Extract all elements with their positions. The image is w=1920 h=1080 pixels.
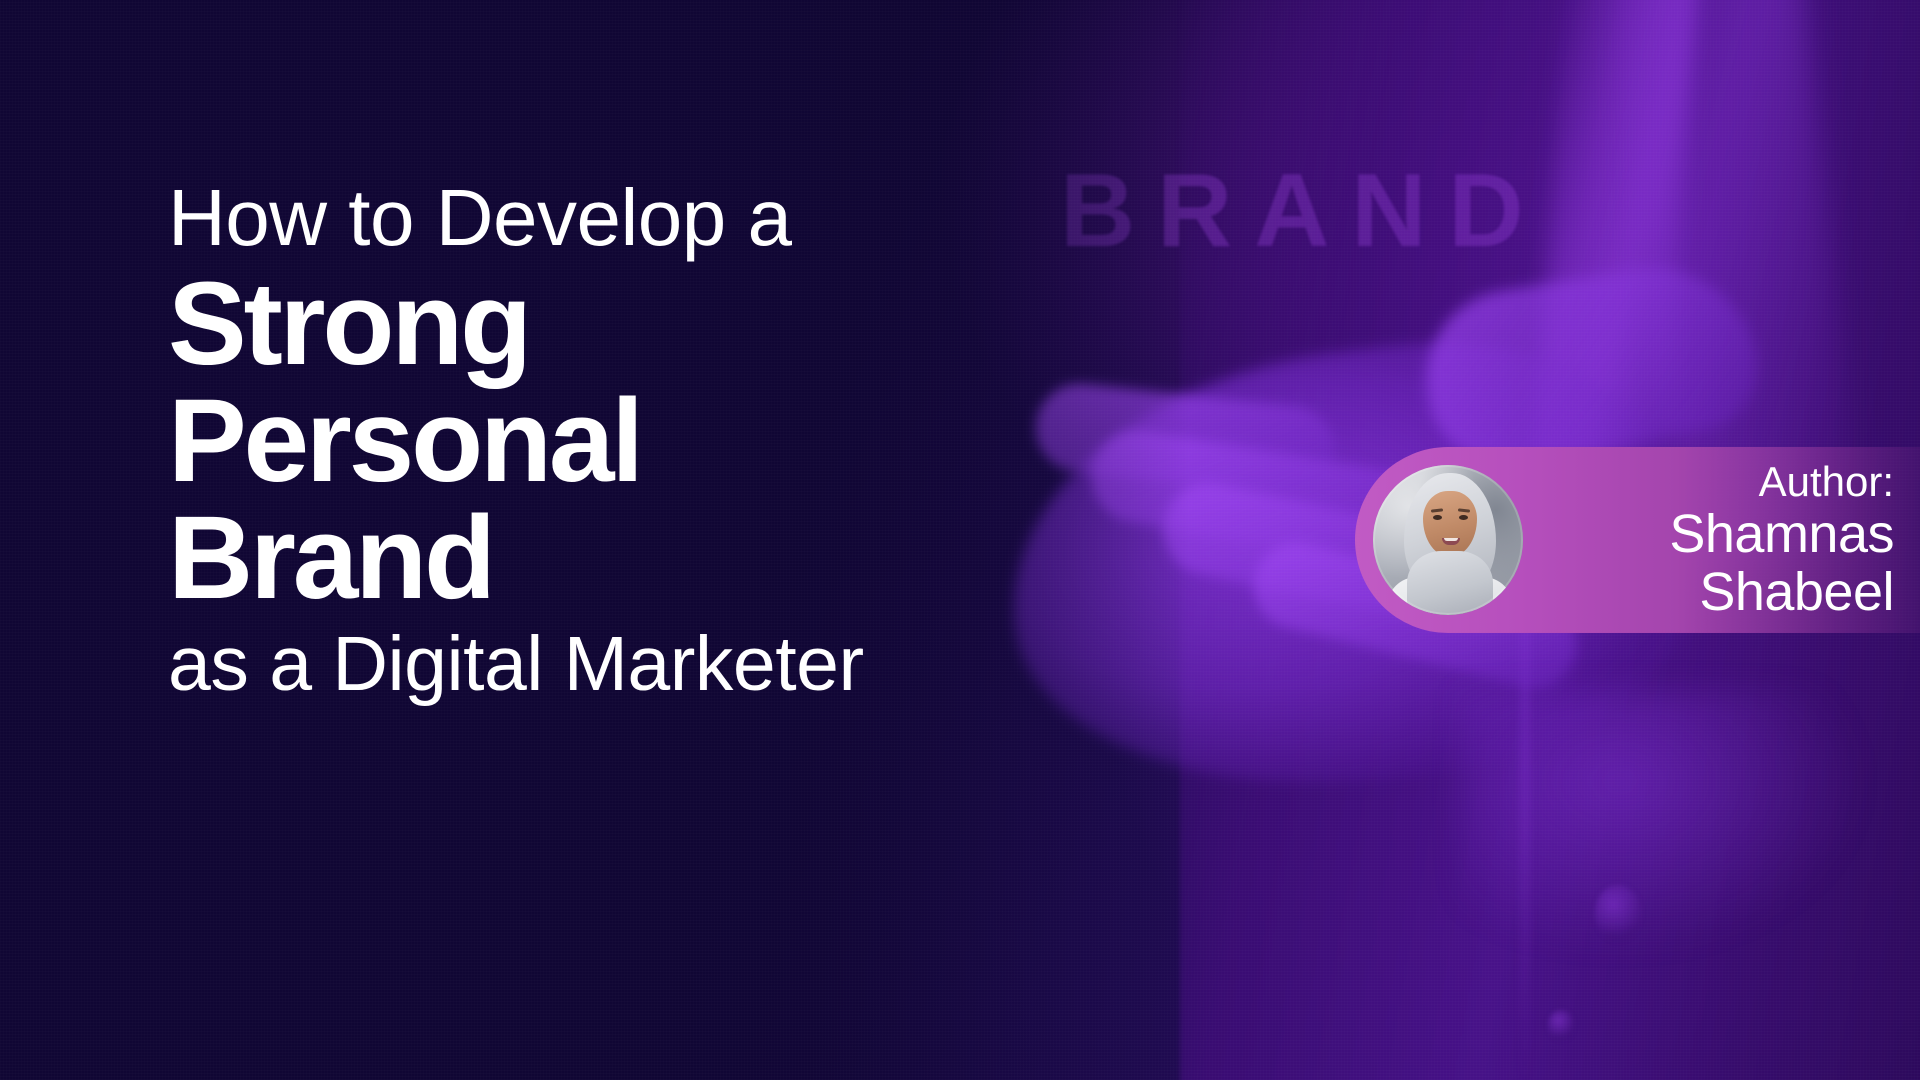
headline-line-1: How to Develop a: [168, 178, 998, 258]
author-avatar: [1373, 465, 1523, 615]
author-label: Author:: [1523, 461, 1894, 503]
author-last-name: Shabeel: [1523, 565, 1894, 619]
headline-block: How to Develop a Strong Personal Brand a…: [168, 178, 998, 703]
jacket-button-lower: [1548, 1010, 1574, 1040]
avatar-ring: [1373, 465, 1523, 615]
thumbnail-canvas: BRAND How to Develop a Strong Personal B…: [0, 0, 1920, 1080]
headline-line-5: as a Digital Marketer: [168, 626, 998, 703]
hand-palm-heel: [1460, 690, 1860, 950]
author-text-block: Author: Shamnas Shabeel: [1523, 461, 1920, 619]
headline-line-4: Brand: [168, 500, 998, 617]
author-first-name: Shamnas: [1523, 507, 1894, 561]
headline-line-2: Strong: [168, 266, 998, 383]
brand-wall-text: BRAND: [1060, 152, 1546, 271]
headline-line-3: Personal: [168, 383, 998, 500]
author-badge[interactable]: Author: Shamnas Shabeel: [1355, 447, 1920, 633]
